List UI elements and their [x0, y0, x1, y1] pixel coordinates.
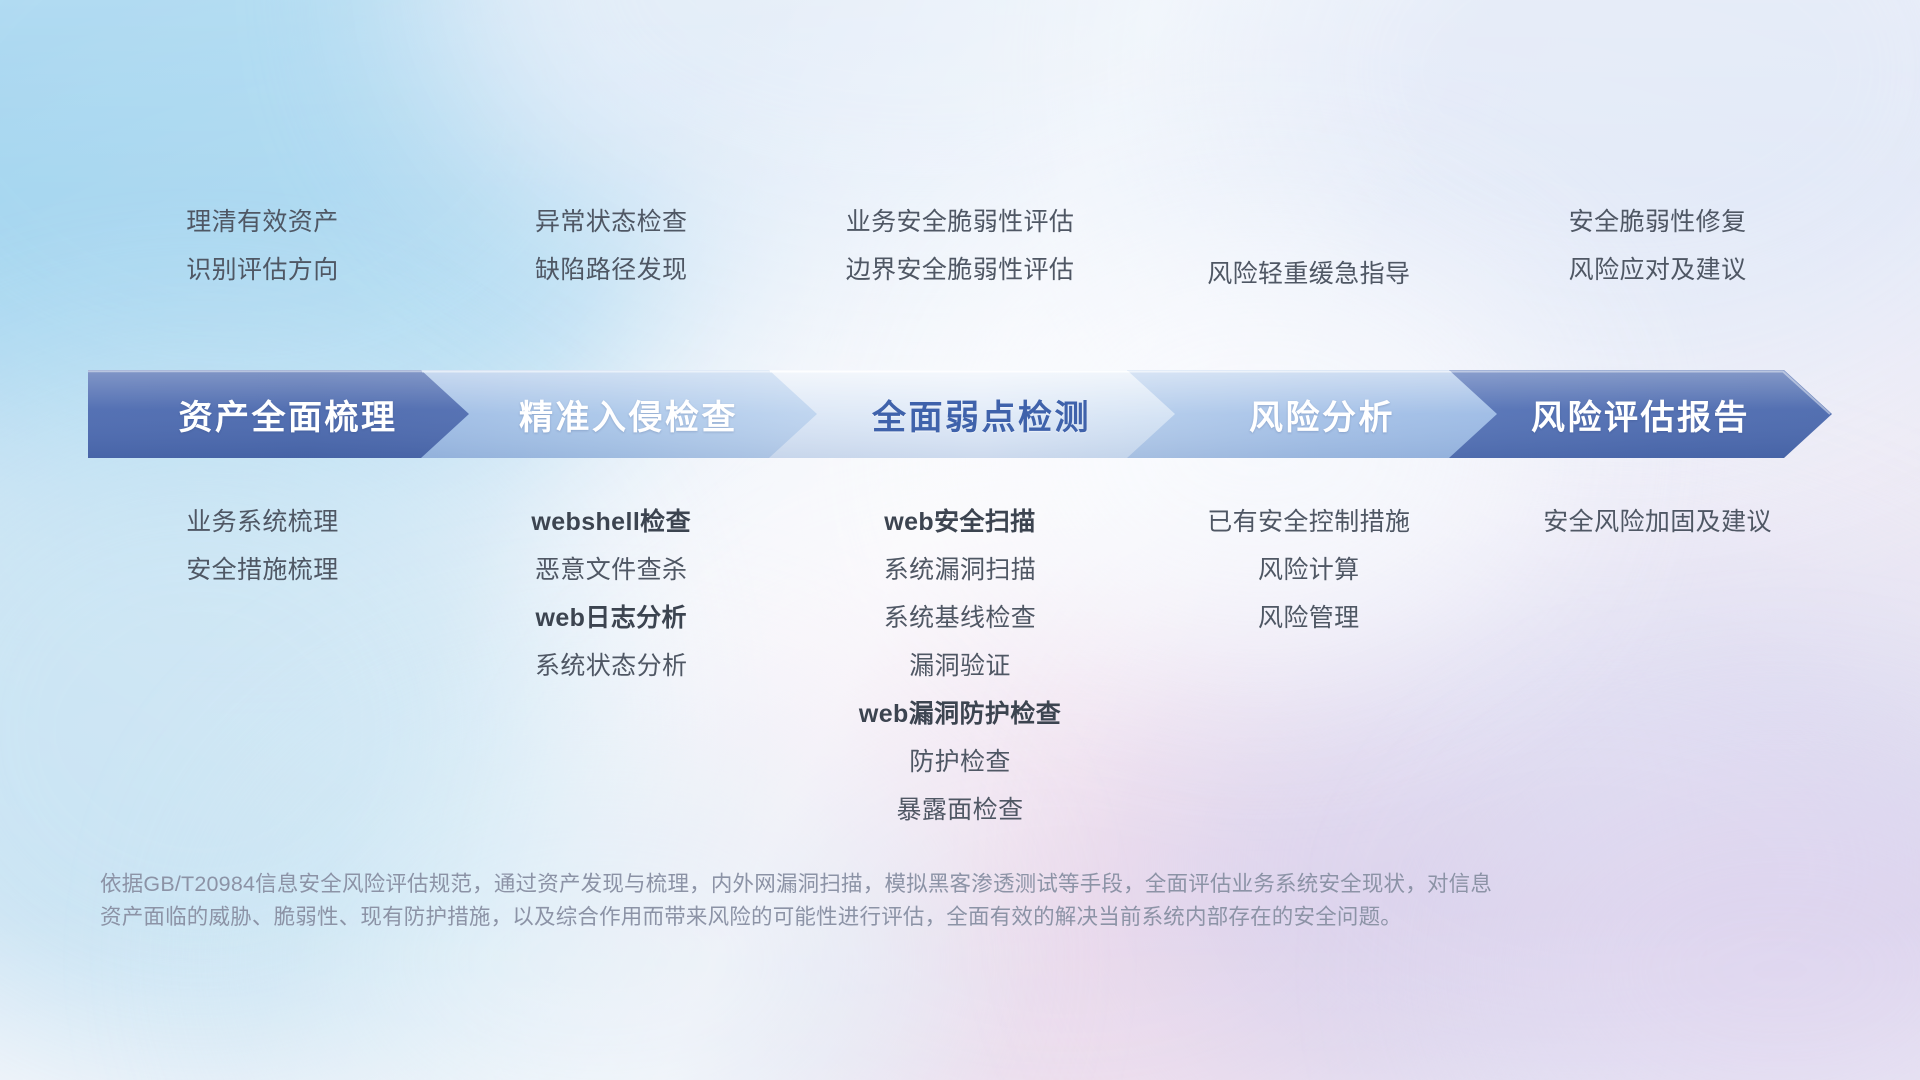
- bottom-list-step-1: 业务系统梳理 安全措施梳理: [88, 505, 437, 925]
- list-item: 业务系统梳理: [186, 505, 338, 539]
- bottom-zone-step-2: webshell检查 恶意文件查杀 web日志分析 系统状态分析: [437, 505, 786, 925]
- bottom-zone-step-1: 业务系统梳理 安全措施梳理: [88, 505, 437, 925]
- list-item: 风险管理: [1258, 601, 1360, 635]
- list-item: 系统漏洞扫描: [884, 553, 1036, 587]
- bottom-zone-step-4: 已有安全控制措施 风险计算 风险管理: [1134, 505, 1483, 925]
- list-item: 恶意文件查杀: [535, 553, 687, 587]
- bottom-list-step-2: webshell检查 恶意文件查杀 web日志分析 系统状态分析: [437, 505, 786, 925]
- list-item: 系统基线检查: [884, 601, 1036, 635]
- chevron-label-step-3: 全面弱点检测: [872, 390, 1091, 439]
- chevron-label-step-4: 风险分析: [1249, 390, 1395, 439]
- list-item: web漏洞防护检查: [859, 697, 1061, 731]
- list-item: 防护检查: [909, 745, 1011, 779]
- list-item: 安全风险加固及建议: [1543, 505, 1772, 539]
- chevron-label-step-1: 资产全面梳理: [179, 390, 398, 439]
- chevron-step-5[interactable]: 风险评估报告: [1449, 370, 1832, 458]
- chevron-label-step-5: 风险评估报告: [1531, 390, 1750, 439]
- slide-content: 理清有效资产 识别评估方向 异常状态检查 缺陷路径发现 业务安全脆弱性评估: [0, 0, 1920, 1080]
- slide-canvas: 理清有效资产 识别评估方向 异常状态检查 缺陷路径发现 业务安全脆弱性评估: [0, 0, 1920, 1080]
- bottom-list-step-3: web安全扫描 系统漏洞扫描 系统基线检查 漏洞验证 web漏洞防护检查 防护检…: [786, 505, 1135, 925]
- list-item: 安全措施梳理: [186, 553, 338, 587]
- footer-description: 依据GB/T20984信息安全风险评估规范，通过资产发现与梳理，内外网漏洞扫描，…: [100, 868, 1630, 934]
- bottom-list-step-4: 已有安全控制措施 风险计算 风险管理: [1134, 505, 1483, 925]
- list-item: webshell检查: [531, 505, 691, 539]
- list-item: 漏洞验证: [909, 649, 1011, 683]
- list-item: 系统状态分析: [535, 649, 687, 683]
- process-chevron-banner: 资产全面梳理: [88, 370, 1832, 458]
- list-item: 暴露面检查: [896, 793, 1023, 827]
- list-item: web日志分析: [535, 601, 686, 635]
- list-item: 风险计算: [1258, 553, 1360, 587]
- chevron-label-step-2: 精准入侵检查: [519, 390, 738, 439]
- bottom-zone-step-5: 安全风险加固及建议: [1483, 505, 1832, 925]
- footer-line-1: 依据GB/T20984信息安全风险评估规范，通过资产发现与梳理，内外网漏洞扫描，…: [100, 868, 1630, 901]
- list-item: web安全扫描: [884, 505, 1035, 539]
- bottom-list-step-5: 安全风险加固及建议: [1483, 505, 1832, 925]
- list-item: 已有安全控制措施: [1207, 505, 1410, 539]
- bottom-zone-step-3: web安全扫描 系统漏洞扫描 系统基线检查 漏洞验证 web漏洞防护检查 防护检…: [786, 505, 1135, 925]
- footer-line-2: 资产面临的威胁、脆弱性、现有防护措施，以及综合作用而带来风险的可能性进行评估，全…: [100, 901, 1630, 934]
